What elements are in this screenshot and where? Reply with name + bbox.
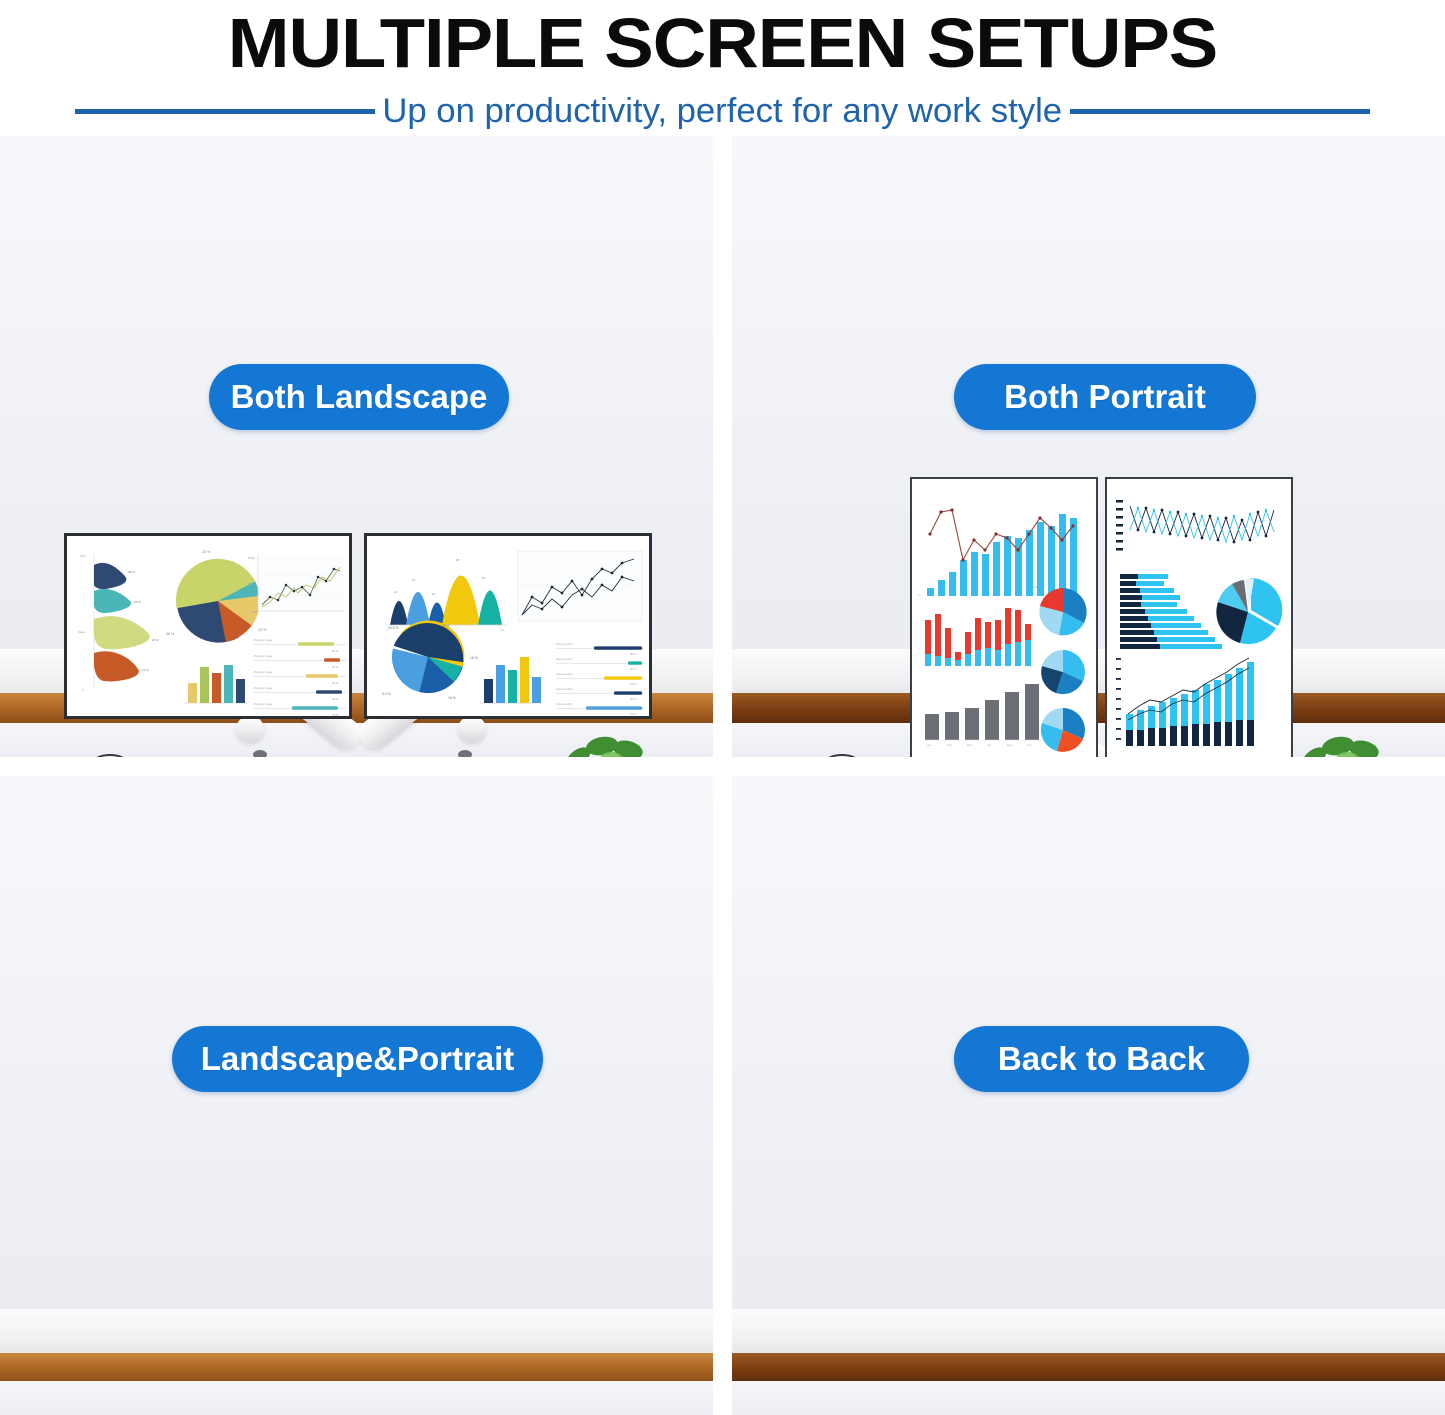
svg-text:18 %: 18 %: [470, 656, 478, 660]
svg-text:78 %: 78 %: [630, 712, 637, 716]
svg-text:38: 38: [456, 558, 459, 562]
plant-foliage: [1252, 724, 1442, 757]
page-title: MULTIPLE SCREEN SETUPS: [0, 0, 1445, 82]
svg-text:Percent value: Percent value: [254, 686, 273, 690]
dual-trend-line: 1000 500 100: [248, 555, 344, 614]
svg-text:43.8 %: 43.8 %: [388, 626, 399, 630]
panel-back-to-back: Back to Back: [732, 776, 1445, 1415]
page-header: MULTIPLE SCREEN SETUPS Up on productivit…: [0, 0, 1445, 136]
grid-gutter-center: [713, 757, 732, 776]
svg-text:60 %: 60 %: [332, 681, 339, 685]
panel-both-portrait: Both Portrait: [732, 136, 1445, 757]
svg-text:5 %: 5 %: [1033, 585, 1038, 589]
svg-text:Percent value: Percent value: [254, 638, 273, 642]
svg-text:46 %: 46 %: [630, 697, 637, 701]
svg-text:10: 10: [394, 590, 397, 594]
svg-text:Mar: Mar: [967, 743, 972, 747]
panel-landscape-portrait: Landscape&Portrait: [0, 776, 713, 1415]
svg-text:22: 22: [412, 578, 415, 582]
svg-text:Percent abc5: Percent abc5: [556, 702, 573, 706]
svg-text:14: 14: [432, 592, 435, 596]
svg-text:12 %: 12 %: [142, 668, 149, 672]
svg-text:Apr: Apr: [987, 743, 991, 747]
svg-text:Percent abc2: Percent abc2: [556, 657, 573, 661]
grid-gutter-h-right: [732, 757, 1445, 776]
monitor-left-screen: 0: [912, 479, 1096, 757]
panel-label-badge: Both Portrait: [954, 364, 1256, 430]
svg-text:Percent value: Percent value: [254, 670, 273, 674]
gray-growth-bars: JanFebMar AprMayJun: [925, 684, 1043, 747]
accent-rule-left: [75, 109, 375, 114]
multi-peak-density: 1022 1438 24 0Value100: [386, 558, 506, 632]
grid-gutter-v-top: [713, 136, 732, 757]
svg-text:1000: 1000: [248, 556, 255, 560]
panel-label-badge: Back to Back: [954, 1026, 1249, 1092]
svg-text:100: 100: [500, 628, 505, 632]
svg-text:76 %: 76 %: [332, 713, 339, 717]
exploded-pie: [1216, 578, 1282, 644]
zigzag-dual-line: [1116, 500, 1274, 551]
svg-text:24 %: 24 %: [332, 665, 339, 669]
svg-text:Jan: Jan: [927, 743, 932, 747]
svg-text:38 %: 38 %: [128, 570, 135, 574]
grid-gutter-v-bottom: [713, 776, 732, 1415]
desk-underside: [0, 1381, 713, 1415]
svg-text:Percent abc4: Percent abc4: [556, 687, 573, 691]
plant-foliage: [516, 724, 706, 757]
monitor-left: 100 Value 0 38 % 25 % 20 % 12 %: [64, 533, 352, 719]
svg-text:20 %: 20 %: [630, 667, 637, 671]
svg-text:May: May: [1007, 743, 1013, 747]
dashboard-portrait-right: [1112, 484, 1290, 757]
svg-text:24: 24: [482, 576, 485, 580]
svg-text:Percent abc3: Percent abc3: [556, 672, 573, 676]
arm-vent-left: [253, 750, 267, 757]
arm-vent-right: [458, 750, 472, 757]
grid-gutter-h-left: [0, 757, 713, 776]
monitor-right-screen: [1107, 479, 1291, 757]
svg-text:12 %: 12 %: [258, 628, 267, 632]
subtitle-row: Up on productivity, perfect for any work…: [0, 88, 1445, 134]
monitor-right: 1022 1438 24 0Value100: [364, 533, 652, 719]
stacked-bars-with-trend: [1116, 658, 1254, 746]
monitor-left: 0: [910, 477, 1098, 757]
svg-text:16 %: 16 %: [448, 696, 456, 700]
desk-surface: [732, 1309, 1445, 1355]
crossing-trend-lines: [518, 551, 642, 621]
svg-text:88 %: 88 %: [630, 652, 637, 656]
svg-text:0: 0: [82, 688, 84, 692]
funnel-horizontal-stacked: [1120, 574, 1222, 649]
svg-text:Jun: Jun: [1027, 743, 1032, 747]
svg-text:42 %: 42 %: [332, 697, 339, 701]
svg-text:Percent abc1: Percent abc1: [556, 642, 573, 646]
svg-text:Value: Value: [78, 630, 86, 634]
svg-text:Percent value: Percent value: [254, 654, 273, 658]
svg-text:64 %: 64 %: [630, 682, 637, 686]
panel-label-badge: Landscape&Portrait: [172, 1026, 543, 1092]
dashboard-left: 100 Value 0 38 % 25 % 20 % 12 %: [72, 541, 350, 717]
svg-text:19 %: 19 %: [442, 624, 450, 628]
page-subtitle: Up on productivity, perfect for any work…: [383, 91, 1063, 131]
svg-text:38 %: 38 %: [166, 632, 175, 636]
svg-text:82 %: 82 %: [332, 649, 339, 653]
progress-rows: Percent abc1Percent abc2 Percent abc3Per…: [556, 642, 644, 716]
svg-text:Feb: Feb: [947, 743, 952, 747]
desk-underside: [732, 1381, 1445, 1415]
pie-bottom: [1041, 708, 1085, 752]
svg-text:100: 100: [252, 610, 257, 614]
combo-bar-line: 0: [919, 508, 1077, 597]
svg-text:Percent value: Percent value: [254, 702, 273, 706]
ridgeline-density-plot: 100 Value 0 38 % 25 % 20 % 12 %: [78, 554, 159, 692]
panel-both-landscape: Both Landscape 100: [0, 136, 713, 757]
pie-middle: [1041, 650, 1085, 694]
desk-edge: [0, 1353, 713, 1383]
panel-label-badge: Both Landscape: [209, 364, 509, 430]
desk-surface: [0, 1309, 713, 1355]
progress-rows: Percent valuePercent value Percent value…: [254, 638, 346, 717]
dashboard-portrait-left: 0: [917, 484, 1095, 757]
five-bar-column: [480, 657, 542, 703]
stacked-red-cyan: [925, 608, 1031, 666]
arm-upper-left: [236, 716, 264, 742]
svg-text:500: 500: [248, 582, 253, 586]
monitor-right: [1105, 477, 1293, 757]
monitor-left-screen: 100 Value 0 38 % 25 % 20 % 12 %: [67, 536, 349, 716]
monitor-right-screen: 1022 1438 24 0Value100: [367, 536, 649, 716]
svg-text:25 %: 25 %: [134, 600, 141, 604]
arm-upper-right: [458, 716, 486, 742]
svg-text:20 %: 20 %: [152, 638, 159, 642]
svg-text:3.2 %: 3.2 %: [382, 692, 391, 696]
svg-text:100: 100: [80, 554, 85, 558]
accent-rule-right: [1070, 109, 1370, 114]
setup-grid: Both Landscape 100: [0, 136, 1445, 1415]
dashboard-right: 1022 1438 24 0Value100: [372, 541, 650, 717]
five-bar-column: [184, 665, 248, 703]
desk-edge: [732, 1353, 1445, 1383]
svg-text:20 %: 20 %: [202, 550, 211, 554]
svg-text:0: 0: [919, 593, 921, 597]
